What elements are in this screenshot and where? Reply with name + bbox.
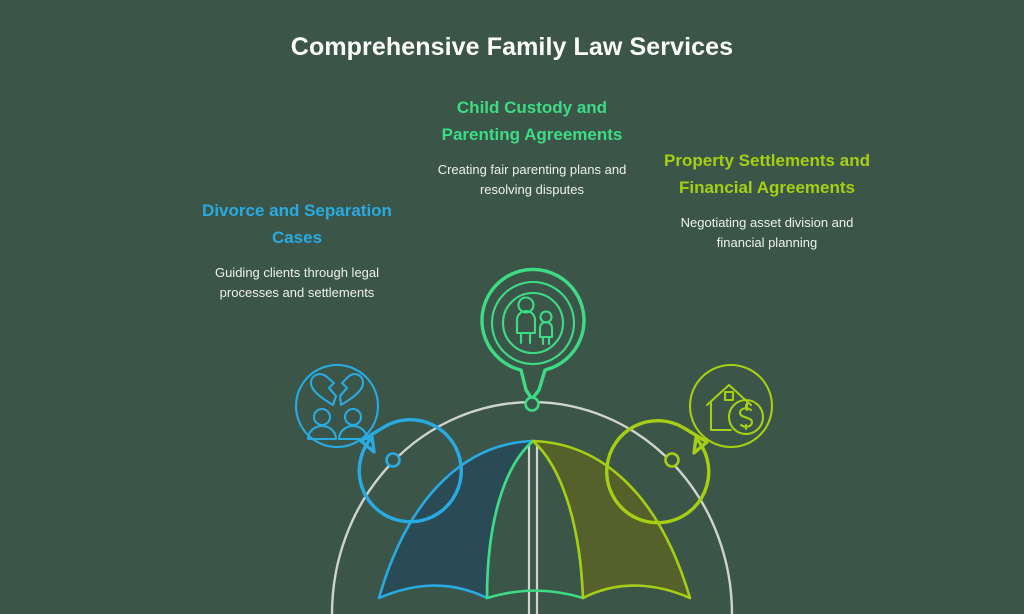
dollar-coin-icon xyxy=(729,400,763,434)
branch-title-custody: Child Custody and Parenting Agreements xyxy=(427,95,637,148)
icon-bubble-property xyxy=(0,0,1024,614)
branch-title-divorce: Divorce and Separation Cases xyxy=(192,198,402,251)
branch-description-custody: Creating fair parenting plans and resolv… xyxy=(427,160,637,199)
branch-title-property: Property Settlements and Financial Agree… xyxy=(662,148,872,201)
branch-divorce: Divorce and Separation Cases Guiding cli… xyxy=(192,198,402,302)
speech-bubble-property xyxy=(607,365,772,523)
branch-description-property: Negotiating asset division and financial… xyxy=(662,213,872,252)
connector-node-property xyxy=(666,454,679,467)
branch-description-divorce: Guiding clients through legal processes … xyxy=(192,263,402,302)
branch-custody: Child Custody and Parenting Agreements C… xyxy=(427,95,637,199)
infographic-canvas: Comprehensive Family Law Services xyxy=(0,0,1024,614)
branch-property: Property Settlements and Financial Agree… xyxy=(662,148,872,252)
